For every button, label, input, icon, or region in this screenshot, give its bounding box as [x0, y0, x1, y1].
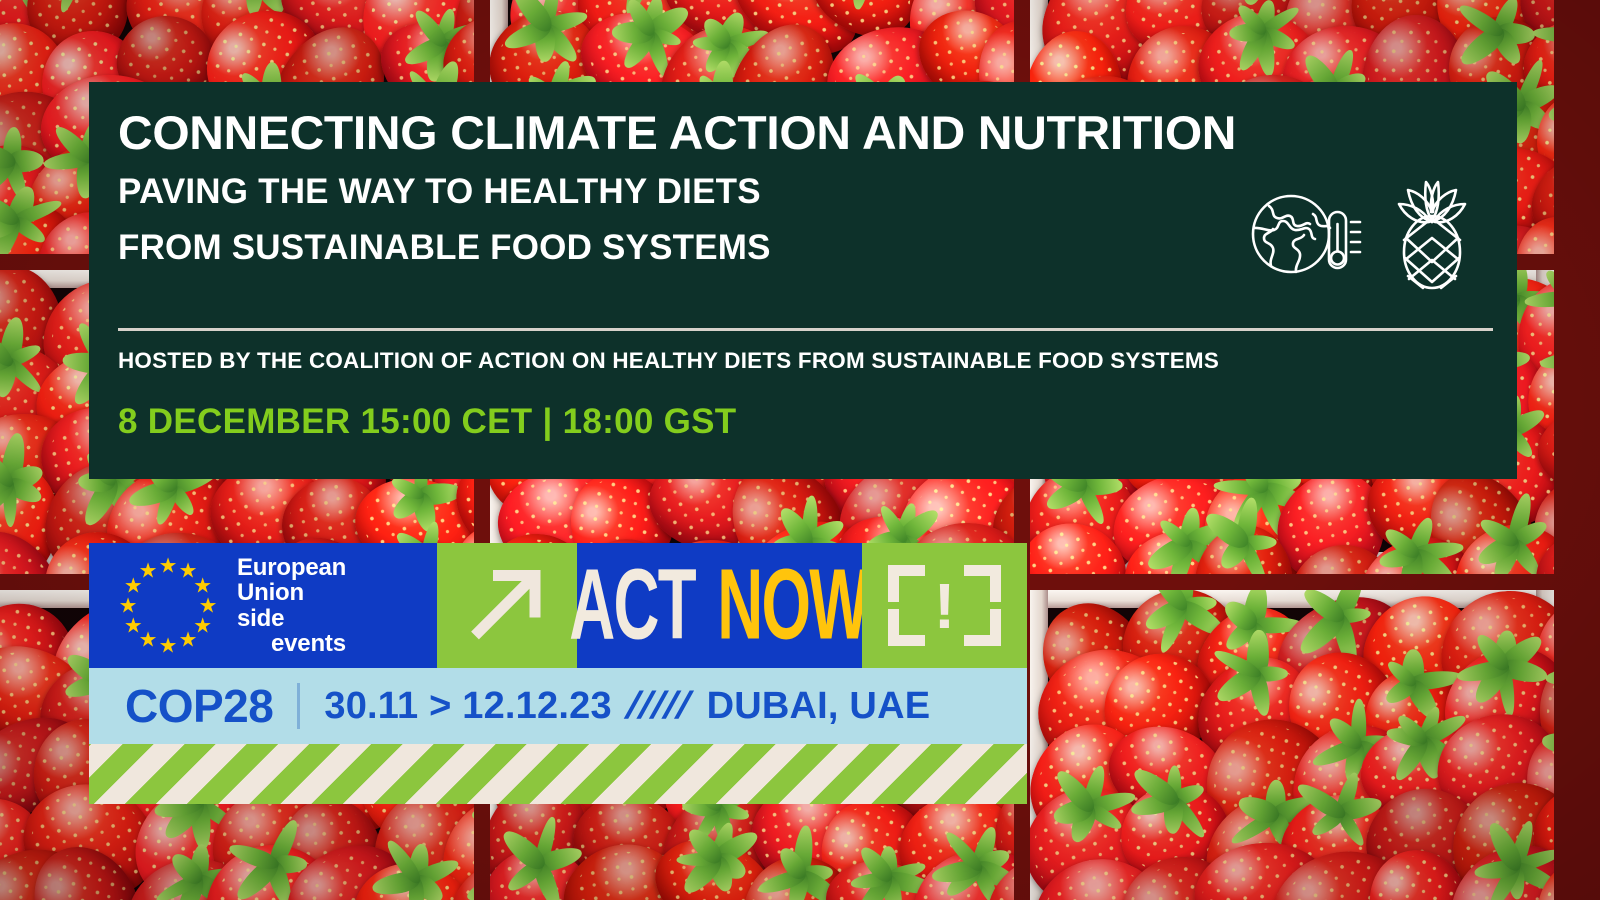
striped-footer-bar: [89, 744, 1027, 804]
pineapple-icon: [1393, 178, 1471, 295]
subtitle-line-2: FROM SUSTAINABLE FOOD SYSTEMS: [118, 230, 771, 265]
panel-icon-group: [1251, 178, 1471, 295]
eu-side-events-logo: ★★★★★★★★★★★★ European Union side events: [89, 543, 437, 668]
logo-lockup: ★★★★★★★★★★★★ European Union side events: [89, 543, 1027, 804]
eu-text-line-4: events: [237, 631, 346, 656]
eu-flag-stars-icon: ★★★★★★★★★★★★: [119, 557, 217, 655]
page-title: CONNECTING CLIMATE ACTION AND NUTRITION: [118, 109, 1236, 156]
arrow-tile: [437, 543, 577, 668]
eu-text-line-2: Union: [237, 580, 346, 605]
eu-text-line-3: side: [237, 606, 346, 631]
bracket-bottom-left-icon: [888, 609, 925, 646]
exclamation-mark: !: [934, 574, 955, 638]
now-word: NOW: [717, 561, 867, 651]
eu-text-line-1: European: [237, 555, 346, 580]
eu-logo-text: European Union side events: [237, 555, 346, 657]
divider: [118, 328, 1493, 331]
globe-thermometer-icon: [1251, 188, 1367, 285]
cop-separator-rule: [297, 683, 300, 729]
act-word: ACT: [569, 561, 695, 651]
cop28-location: DUBAI, UAE: [707, 687, 931, 725]
bracket-bottom-right-icon: [964, 609, 1001, 646]
bracket-top-right-icon: [964, 565, 1001, 602]
hosted-by-text: HOSTED BY THE COALITION OF ACTION ON HEA…: [118, 350, 1219, 372]
cop28-info-bar: COP28 30.11 > 12.12.23 ///// DUBAI, UAE: [89, 668, 1027, 744]
cop28-label: COP28: [125, 683, 273, 729]
subtitle-line-1: PAVING THE WAY TO HEALTHY DIETS: [118, 174, 761, 209]
bracket-top-left-icon: [888, 565, 925, 602]
exclamation-tile: !: [862, 543, 1027, 668]
slash-separator: /////: [621, 687, 698, 725]
arrow-up-right-icon: [465, 561, 549, 650]
event-datetime: 8 DECEMBER 15:00 CET | 18:00 GST: [118, 404, 736, 439]
cop28-dates: 30.11 > 12.12.23: [324, 687, 611, 725]
headline-panel: CONNECTING CLIMATE ACTION AND NUTRITION …: [89, 82, 1517, 479]
logo-strip: ★★★★★★★★★★★★ European Union side events: [89, 543, 1027, 668]
act-now-tile: ACT NOW: [577, 543, 862, 668]
banner-stage: CONNECTING CLIMATE ACTION AND NUTRITION …: [0, 0, 1600, 900]
